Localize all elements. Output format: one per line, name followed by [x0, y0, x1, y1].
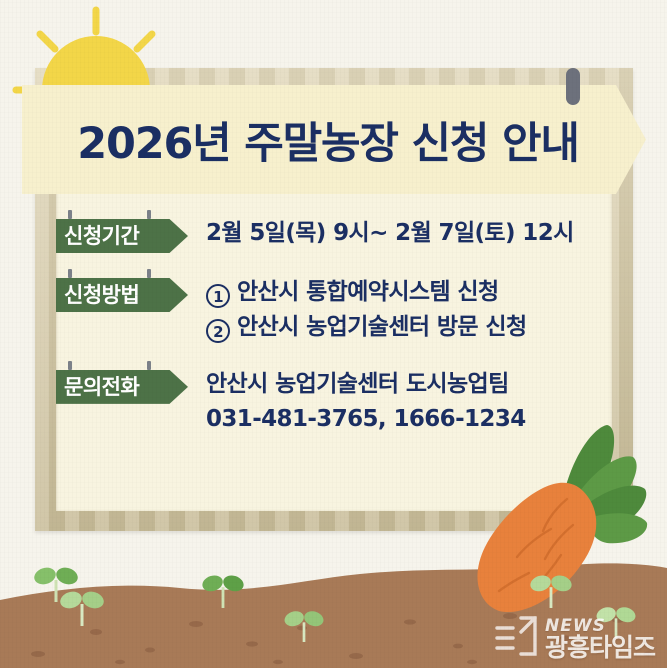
sprout-icon — [530, 572, 572, 612]
watermark-mark-icon — [489, 612, 541, 660]
value-line: 2월 5일(목) 9시~ 2월 7일(토) 12시 — [206, 216, 636, 251]
row-label-contact-phone: 문의전화 — [56, 370, 188, 404]
info-row: 신청방법 1안산시 통합예약시스템 신청 2안산시 농업기술센터 방문 신청 — [56, 271, 636, 345]
pin-icon — [566, 68, 580, 105]
number-marker-2: 2 — [206, 319, 230, 343]
title-ribbon: 2026년 주말농장 신청 안내 — [22, 85, 646, 194]
poster-canvas: 2026년 주말농장 신청 안내 신청기간 2월 5일(목) 9시~ 2월 7일… — [0, 0, 667, 668]
info-rows: 신청기간 2월 5일(목) 9시~ 2월 7일(토) 12시 신청방법 1안산시… — [56, 212, 636, 437]
tag-holder: 문의전화 — [56, 363, 206, 404]
tag-holder: 신청기간 — [56, 212, 206, 253]
tag-holder: 신청방법 — [56, 271, 206, 312]
page-title: 2026년 주말농장 신청 안내 — [77, 109, 578, 171]
sprout-icon — [202, 572, 244, 612]
value-text: 안산시 농업기술센터 방문 신청 — [237, 314, 527, 340]
watermark-brand: 광흥타임즈 — [545, 635, 655, 660]
row-value: 2월 5일(목) 9시~ 2월 7일(토) 12시 — [206, 212, 636, 251]
value-line: 안산시 농업기술센터 도시농업팀 — [206, 367, 636, 402]
row-label-application-period: 신청기간 — [56, 219, 188, 253]
nail-icon — [147, 210, 151, 219]
row-value: 1안산시 통합예약시스템 신청 2안산시 농업기술센터 방문 신청 — [206, 271, 636, 345]
sprout-icon — [284, 608, 324, 646]
nail-icon — [147, 361, 151, 370]
info-row: 신청기간 2월 5일(목) 9시~ 2월 7일(토) 12시 — [56, 212, 636, 253]
sprout-icon — [60, 588, 104, 630]
nail-icon — [68, 361, 72, 370]
nail-icon — [68, 210, 72, 219]
nail-icon — [68, 269, 72, 278]
watermark-logo: NEWS 광흥타임즈 — [489, 612, 655, 660]
value-text: 안산시 통합예약시스템 신청 — [237, 279, 499, 305]
nail-icon — [147, 269, 151, 278]
value-line: 2안산시 농업기술센터 방문 신청 — [206, 310, 636, 345]
row-label-application-method: 신청방법 — [56, 278, 188, 312]
number-marker-1: 1 — [206, 284, 230, 308]
value-line: 1안산시 통합예약시스템 신청 — [206, 275, 636, 310]
